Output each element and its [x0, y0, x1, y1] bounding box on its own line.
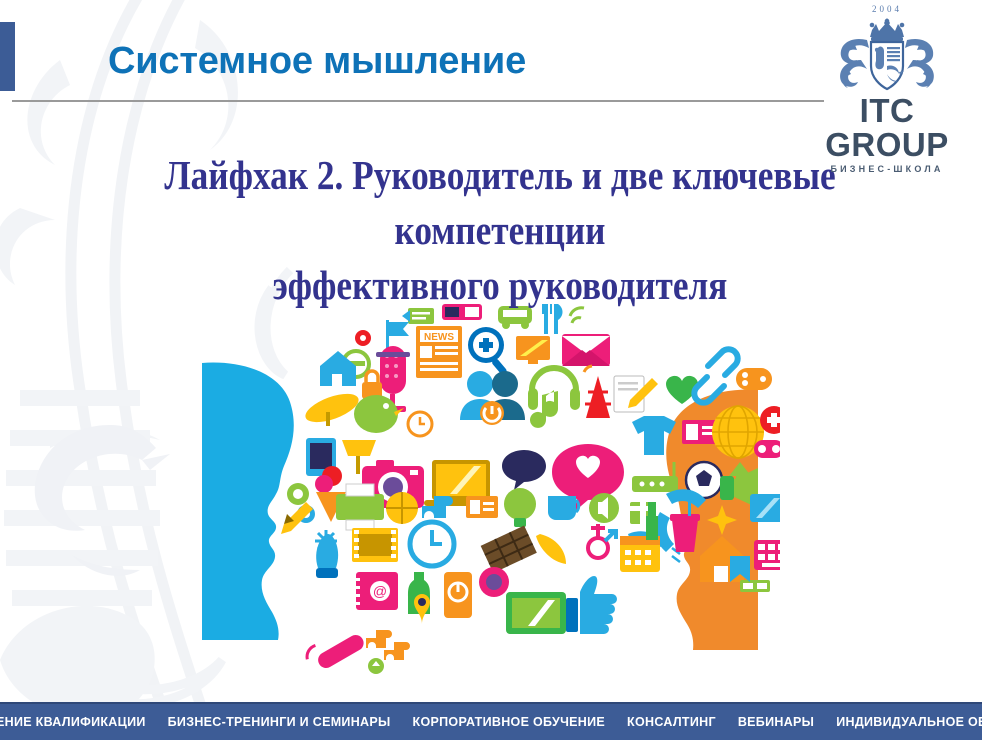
- icon-banana: [536, 534, 566, 564]
- logo-subtitle: БИЗНЕС-ШКОЛА: [806, 162, 968, 176]
- icon-vr-goggles: [754, 440, 780, 458]
- left-head-silhouette: [202, 363, 294, 640]
- icon-chat-bubble-dark: [502, 450, 546, 490]
- header-divider: [12, 100, 824, 102]
- icon-smartphone: [444, 572, 472, 618]
- svg-text:NEWS: NEWS: [424, 332, 454, 343]
- icon-recycle-small: [368, 658, 384, 674]
- icon-gamepad: [736, 368, 772, 390]
- icon-film-strip: [352, 528, 398, 562]
- footer-item-1[interactable]: БИЗНЕС-ТРЕНИНГИ И СЕМИНАРЫ: [157, 715, 402, 729]
- footer-nav: ПОВЫШЕНИЕ КВАЛИФИКАЦИИ БИЗНЕС-ТРЕНИНГИ И…: [0, 702, 982, 740]
- slide: Системное мышление 2004: [0, 0, 986, 742]
- icon-satellite-dish: [302, 388, 362, 428]
- icon-lock: [362, 371, 382, 399]
- svg-text:@: @: [373, 583, 387, 599]
- footer-item-4[interactable]: ВЕБИНАРЫ: [727, 715, 825, 729]
- icon-record-dot: [355, 330, 371, 346]
- heading-line-1: Лайфхак 2. Руководитель и две ключевые к…: [104, 148, 895, 258]
- icon-keyboard: [754, 540, 780, 570]
- icon-gender-symbol: [588, 524, 616, 558]
- main-heading: Лайфхак 2. Руководитель и две ключевые к…: [104, 148, 895, 313]
- icon-notebook: @: [352, 572, 398, 610]
- icon-3d-glasses-small: [740, 580, 770, 592]
- icon-webcam: [479, 567, 509, 597]
- header-accent-bar: [0, 22, 15, 91]
- footer-item-2[interactable]: КОРПОРАТИВНОЕ ОБУЧЕНИЕ: [402, 715, 617, 729]
- page-title: Системное мышление: [108, 40, 526, 83]
- icon-note-pencil: [614, 376, 658, 412]
- logo-name: ITC GROUP: [806, 94, 968, 162]
- icon-puzzle-piece: [422, 496, 453, 518]
- heading-line-2: эффективного руководителя: [104, 258, 895, 313]
- icon-puzzle-orange: [366, 630, 410, 660]
- icon-search-plus: [468, 327, 508, 376]
- logo-year: 2004: [806, 4, 968, 14]
- logo: 2004: [806, 4, 968, 176]
- icon-phone-old: [303, 623, 366, 675]
- icon-contact-card: [466, 496, 498, 518]
- icon-bird: [354, 395, 404, 433]
- icon-broadcast-tower: [584, 366, 611, 418]
- icon-lightbulb: [504, 488, 536, 527]
- footer-item-5[interactable]: ИНДИВИДУАЛЬНОЕ ОБУЧЕНИЕ: [825, 715, 986, 729]
- conversation-illustration: NEWS: [180, 280, 780, 680]
- icon-thumbs-up: [566, 576, 617, 634]
- icon-location-pin: [414, 594, 430, 624]
- footer-item-0[interactable]: ПОВЫШЕНИЕ КВАЛИФИКАЦИИ: [0, 715, 157, 729]
- icon-tv: [750, 494, 780, 522]
- icon-news: NEWS: [416, 326, 462, 378]
- icon-home: [320, 351, 356, 386]
- icon-monitor: [516, 336, 550, 364]
- icon-coffee-cup: [548, 496, 579, 520]
- icon-settings-gear: [287, 483, 309, 505]
- icon-calendar: [620, 536, 660, 572]
- icon-envelope: [562, 334, 610, 366]
- icon-volume: [589, 493, 619, 523]
- icon-tablet-green: [506, 592, 566, 634]
- crest-icon: [827, 14, 947, 94]
- icon-power: [480, 401, 504, 425]
- icon-chocolate: [481, 526, 537, 573]
- icon-clock: [410, 522, 454, 566]
- footer-item-3[interactable]: КОНСАЛТИНГ: [616, 715, 727, 729]
- icon-basketball: [386, 492, 418, 524]
- icon-clock-small: [408, 412, 432, 436]
